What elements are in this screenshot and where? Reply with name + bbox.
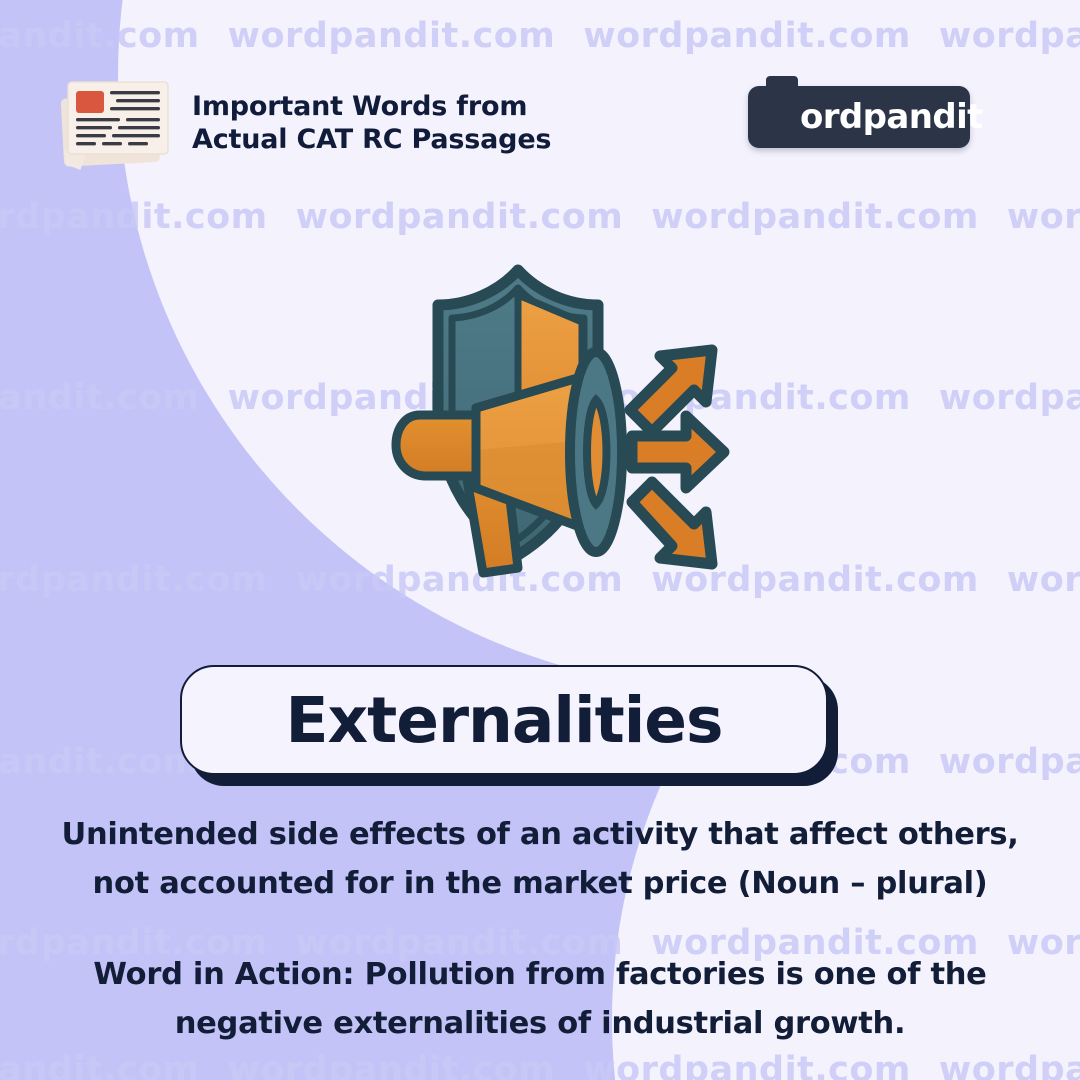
bookmark-w-icon	[760, 76, 804, 146]
vocabulary-word: Externalities	[285, 684, 722, 757]
arrow-down-right-icon	[632, 482, 712, 564]
word-card-graphic: wordpandit.comwordpandit.comwordpandit.c…	[0, 0, 1080, 1080]
logo-text: ordpandit	[800, 86, 983, 148]
page-title-line1: Important Words from	[192, 90, 551, 123]
definition-line2: not accounted for in the market price (N…	[40, 859, 1040, 908]
page-title-line2: Actual CAT RC Passages	[192, 123, 551, 156]
definition-line1: Unintended side effects of an activity t…	[40, 810, 1040, 859]
word-card-body: Externalities	[180, 665, 828, 775]
wordpandit-logo[interactable]: ordpandit	[748, 86, 970, 148]
definition-text: Unintended side effects of an activity t…	[40, 810, 1040, 908]
newspaper-icon	[52, 70, 180, 176]
example-line2: negative externalities of industrial gro…	[70, 999, 1010, 1048]
arrow-up-right-icon	[630, 350, 712, 432]
example-line1: Word in Action: Pollution from factories…	[70, 950, 1010, 999]
shield-megaphone-arrows-illustration	[300, 250, 770, 650]
word-card: Externalities	[180, 665, 828, 775]
example-sentence: Word in Action: Pollution from factories…	[70, 950, 1010, 1048]
header: Important Words from Actual CAT RC Passa…	[0, 62, 1080, 172]
page-title: Important Words from Actual CAT RC Passa…	[192, 90, 551, 156]
